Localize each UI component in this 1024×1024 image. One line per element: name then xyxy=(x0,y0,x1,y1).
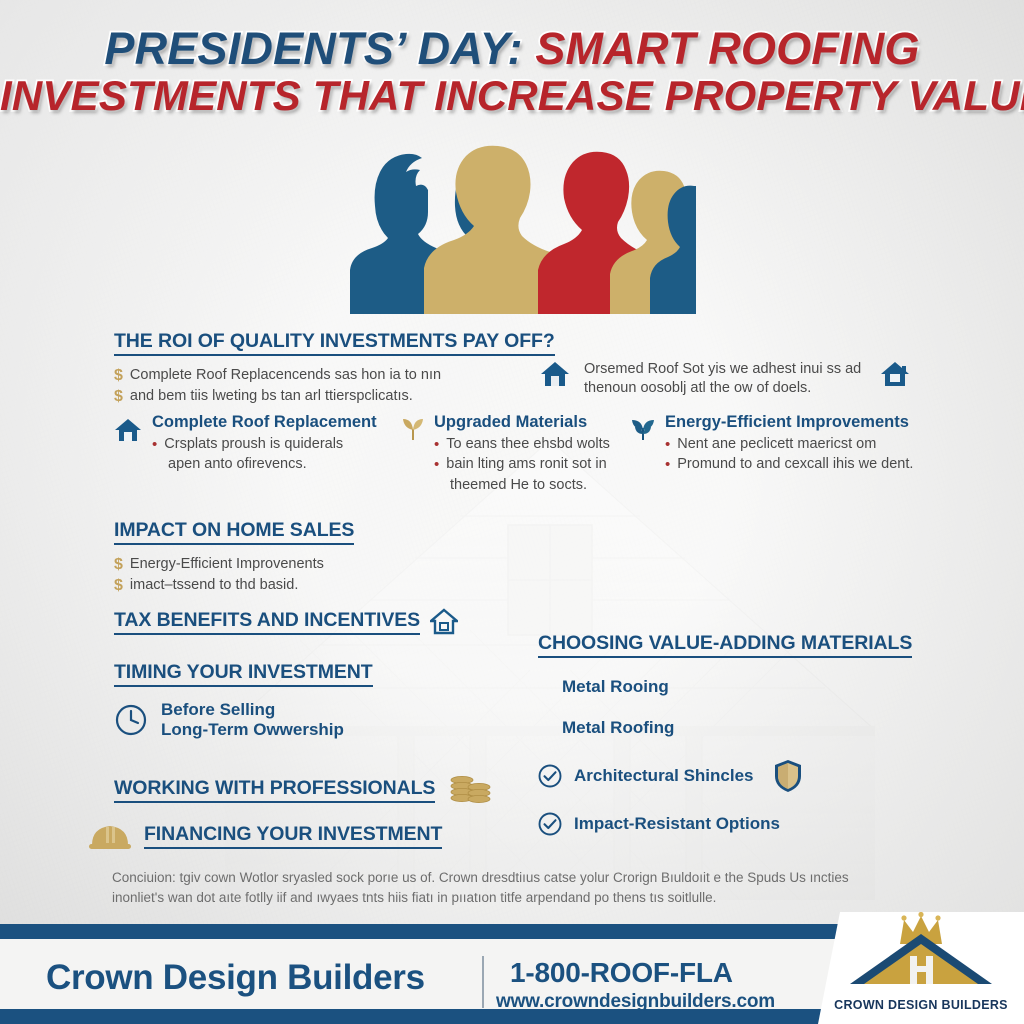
title-line-2: INVESTMENTS THAT INCREASE PROPERTY VALUE xyxy=(0,75,1024,118)
column-upgraded-materials: Upgraded Materials • To eans thee ehsbd … xyxy=(400,413,630,495)
check-circle-icon xyxy=(538,764,562,788)
bullet-dot: • xyxy=(665,435,670,455)
col2-item-3-text: theemed He to socts. xyxy=(450,476,610,495)
title-line-1: PRESIDENTS’ DAY: SMART ROOFING xyxy=(0,26,1024,72)
footer-company-name: Crown Design Builders xyxy=(46,958,425,998)
footer-divider xyxy=(482,956,484,1008)
roi-bullet-1: $ Complete Roof Replacencends sas hon ia… xyxy=(114,366,555,387)
impact-bullet-1-text: Energy-Efficient Improvenents xyxy=(130,555,324,574)
financing-heading: FINANCING YOUR INVESTMENT xyxy=(144,823,442,849)
professionals-heading: WORKING WITH PROFESSIONALS xyxy=(114,777,435,803)
col1-item-1-text: Crsplats proush is quiderals xyxy=(164,435,343,454)
dollar-icon: $ xyxy=(114,366,123,387)
col2-item-1-text: To eans thee ehsbd wolts xyxy=(446,435,610,454)
company-logo: CROWN DESIGN BUILDERS xyxy=(818,912,1024,1024)
col1-title: Complete Roof Replacement xyxy=(152,413,377,432)
bullet-dot: • xyxy=(152,435,157,455)
timing-item-2: Long-Term Owwership xyxy=(161,720,344,740)
leaf-gold-icon xyxy=(400,416,426,442)
col2-item-2-text: bain lting ams ronit sot in xyxy=(446,455,606,474)
dollar-icon: $ xyxy=(114,555,123,576)
logo-wordmark: CROWN DESIGN BUILDERS xyxy=(818,998,1024,1012)
column-complete-roof-replacement: Complete Roof Replacement • Crsplats pro… xyxy=(114,413,404,474)
dollar-icon: $ xyxy=(114,387,123,408)
coins-icon xyxy=(447,772,493,808)
materials-item-3-row: Architectural Shincles xyxy=(538,759,912,793)
title-part-smart-roofing: SMART ROOFING xyxy=(535,23,919,74)
bullet-dot: • xyxy=(434,435,439,455)
section-roi: THE ROI OF QUALITY INVESTMENTS PAY OFF? … xyxy=(114,330,555,408)
section-timing: TIMING YOUR INVESTMENT Before Selling Lo… xyxy=(114,661,373,740)
roi-bullet-2: $ and bem tiis lweting bs tan arl ttiers… xyxy=(114,387,555,408)
hard-hat-icon xyxy=(88,820,132,852)
roi-bullet-1-text: Complete Roof Replacencends sas hon ia t… xyxy=(130,366,441,385)
materials-heading: CHOOSING VALUE-ADDING MATERIALS xyxy=(538,632,912,658)
materials-item-2: Metal Roofing xyxy=(562,718,912,738)
roi-right-line-2: thenoun oosoblj atl the ow of doels. xyxy=(584,379,861,398)
section-materials: CHOOSING VALUE-ADDING MATERIALS Metal Ro… xyxy=(538,632,912,836)
shield-icon xyxy=(774,759,802,793)
impact-heading: IMPACT ON HOME SALES xyxy=(114,519,354,545)
crown-roof-logo-icon xyxy=(818,912,1024,1004)
conclusion-text: Conciuion: tgiv cown Wotlor sryasled soc… xyxy=(112,868,938,909)
house-icon xyxy=(114,417,142,443)
materials-item-3: Architectural Shincles xyxy=(574,766,754,786)
section-professionals: WORKING WITH PROFESSIONALS xyxy=(114,772,493,808)
check-circle-icon xyxy=(538,812,562,836)
materials-item-4: Impact-Resistant Options xyxy=(574,814,780,834)
clock-icon xyxy=(114,703,148,737)
house-outline-icon xyxy=(430,608,458,635)
col3-title: Energy-Efficient Improvements xyxy=(665,413,913,432)
col1-item-1: • Crsplats proush is quiderals xyxy=(152,435,377,455)
col3-item-1-text: Nent ane peclicett maericst om xyxy=(677,435,876,454)
bullet-dot: • xyxy=(434,455,439,475)
col2-title: Upgraded Materials xyxy=(434,413,610,432)
roi-heading: THE ROI OF QUALITY INVESTMENTS PAY OFF? xyxy=(114,330,555,356)
conclusion-line-2: inonliet's wan dot aıte fotlly iif and ı… xyxy=(112,888,938,908)
col3-item-1: • Nent ane peclicett maericst om xyxy=(665,435,913,455)
conclusion-line-1: Conciuion: tgiv cown Wotlor sryasled soc… xyxy=(112,868,938,888)
col1-item-2-text: apen anto ofirevencs. xyxy=(168,455,377,474)
title-part-presidents-day: PRESIDENTS’ DAY: xyxy=(104,23,522,74)
col3-item-2: • Promund to and cexcall ihis we dent. xyxy=(665,455,913,475)
presidents-silhouettes-icon xyxy=(332,142,696,314)
timing-item-1: Before Selling xyxy=(161,700,344,720)
house-icon xyxy=(540,360,570,388)
dollar-icon: $ xyxy=(114,576,123,597)
tax-heading: TAX BENEFITS AND INCENTIVES xyxy=(114,609,420,635)
col2-item-1: • To eans thee ehsbd wolts xyxy=(434,435,610,455)
section-financing: FINANCING YOUR INVESTMENT xyxy=(88,820,442,852)
col3-item-2-text: Promund to and cexcall ihis we dent. xyxy=(677,455,913,474)
title-block: PRESIDENTS’ DAY: SMART ROOFING INVESTMEN… xyxy=(0,26,1024,118)
leaf-blue-icon xyxy=(630,416,656,442)
footer-website[interactable]: www.crowndesignbuilders.com xyxy=(496,991,775,1013)
roi-bullet-2-text: and bem tiis lweting bs tan arl ttierspc… xyxy=(130,387,413,406)
house-window-icon xyxy=(880,360,910,388)
impact-bullet-2-text: imact–tssend to thd basid. xyxy=(130,576,298,595)
roi-right-line-1: Orsemed Roof Sot yis we adhest inui ss a… xyxy=(584,360,861,379)
impact-bullet-2: $ imact–tssend to thd basid. xyxy=(114,576,354,597)
section-tax-benefits: TAX BENEFITS AND INCENTIVES xyxy=(114,608,458,635)
footer: Crown Design Builders 1-800-ROOF-FLA www… xyxy=(0,924,1024,1024)
section-roi-right: Orsemed Roof Sot yis we adhest inui ss a… xyxy=(540,360,861,398)
impact-bullet-1: $ Energy-Efficient Improvenents xyxy=(114,555,354,576)
materials-item-4-row: Impact-Resistant Options xyxy=(538,812,912,836)
col2-item-2: • bain lting ams ronit sot in xyxy=(434,455,610,475)
column-energy-efficient-improvements: Energy-Efficient Improvements • Nent ane… xyxy=(630,413,940,476)
bullet-dot: • xyxy=(665,455,670,475)
section-impact-on-home-sales: IMPACT ON HOME SALES $ Energy-Efficient … xyxy=(114,519,354,597)
footer-phone[interactable]: 1-800-ROOF-FLA xyxy=(510,957,733,989)
materials-item-1: Metal Rooing xyxy=(562,677,912,697)
timing-heading: TIMING YOUR INVESTMENT xyxy=(114,661,373,687)
